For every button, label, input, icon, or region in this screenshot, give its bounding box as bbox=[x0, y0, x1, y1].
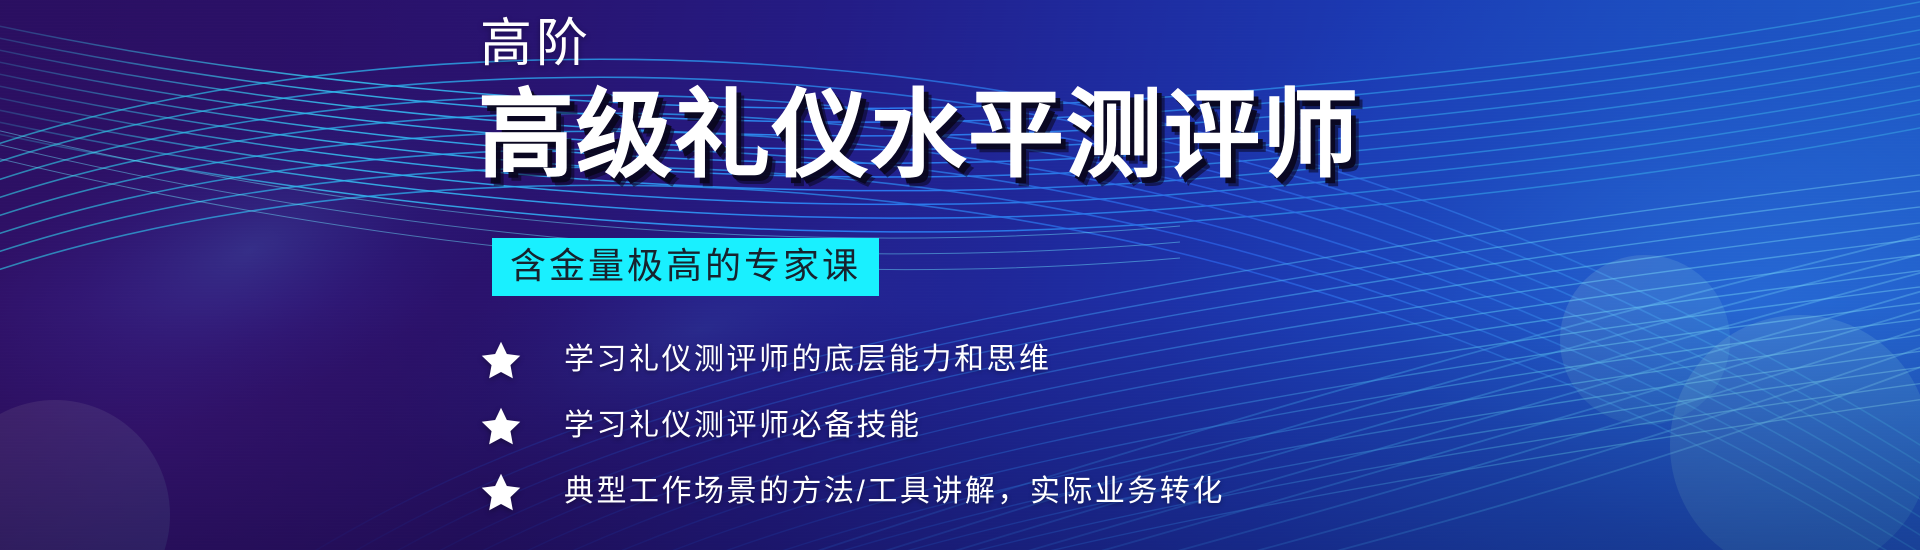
feature-label: 典型工作场景的方法/工具讲解，实际业务转化 bbox=[564, 477, 1225, 507]
feature-label: 学习礼仪测评师的底层能力和思维 bbox=[564, 345, 1052, 375]
banner-content: 高阶 高级礼仪水平测评师 含金量极高的专家课 学习礼仪测评师的底层能力和思维 学… bbox=[480, 0, 1580, 550]
decorative-orb-top-right bbox=[1560, 255, 1730, 425]
banner-headline: 高级礼仪水平测评师 bbox=[478, 88, 1360, 184]
decorative-orb-large-right bbox=[1670, 315, 1920, 550]
banner-feature-list: 学习礼仪测评师的底层能力和思维 学习礼仪测评师必备技能 典型工作场景的方法/工具… bbox=[480, 338, 1225, 514]
star-icon bbox=[480, 339, 522, 381]
star-icon bbox=[480, 471, 522, 513]
banner-subtitle-highlight: 含金量极高的专家课 bbox=[492, 238, 879, 296]
list-item: 学习礼仪测评师的底层能力和思维 bbox=[480, 338, 1225, 382]
decorative-orb-left bbox=[0, 400, 170, 550]
banner-subtitle-label: 含金量极高的专家课 bbox=[510, 245, 861, 286]
course-promo-banner: 高阶 高级礼仪水平测评师 含金量极高的专家课 学习礼仪测评师的底层能力和思维 学… bbox=[0, 0, 1920, 550]
list-item: 典型工作场景的方法/工具讲解，实际业务转化 bbox=[480, 470, 1225, 514]
list-item: 学习礼仪测评师必备技能 bbox=[480, 404, 1225, 448]
feature-label: 学习礼仪测评师必备技能 bbox=[564, 411, 922, 441]
banner-eyebrow-label: 高阶 bbox=[480, 18, 592, 70]
star-icon bbox=[480, 405, 522, 447]
